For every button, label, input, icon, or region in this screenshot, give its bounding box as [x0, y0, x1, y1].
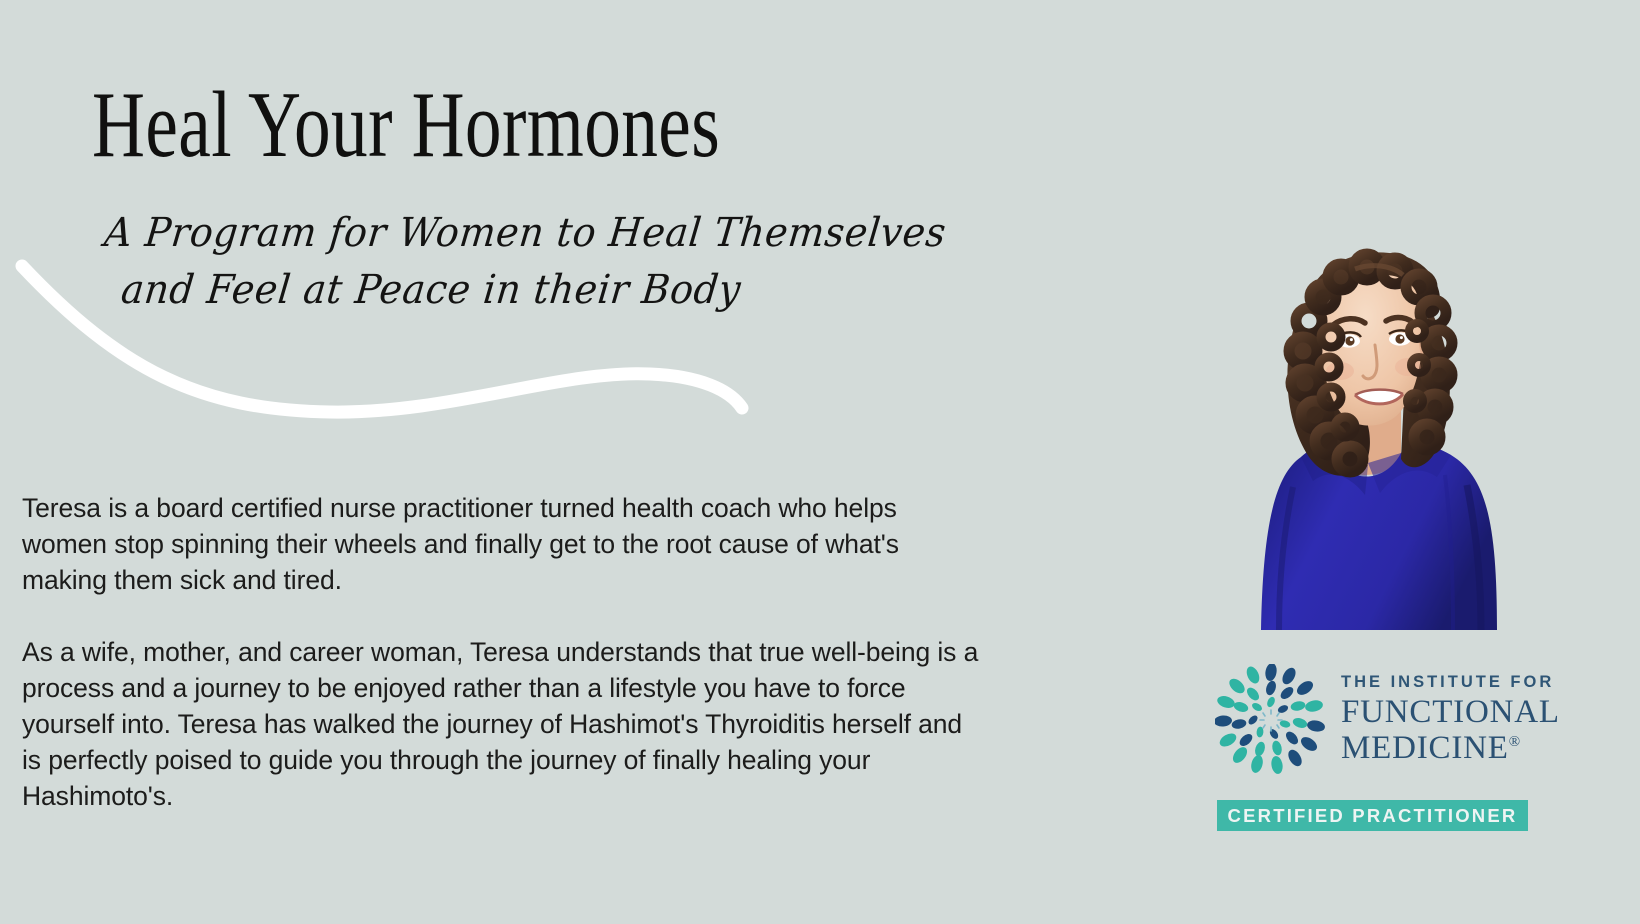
certified-practitioner-label: CERTIFIED PRACTITIONER: [1228, 805, 1518, 827]
portrait-illustration: [1205, 225, 1525, 630]
page-title: Heal Your Hormones: [92, 78, 720, 172]
subtitle-line-1: A Program for Women to Heal Themselves: [102, 205, 773, 262]
registered-mark: ®: [1509, 734, 1521, 750]
ifm-logo-row: THE INSTITUTE FOR FUNCTIONAL MEDICINE®: [1163, 645, 1528, 795]
ifm-line-2: FUNCTIONAL: [1341, 695, 1560, 731]
certified-practitioner-bar: CERTIFIED PRACTITIONER: [1217, 800, 1528, 831]
body-paragraph-2: As a wife, mother, and career woman, Ter…: [22, 634, 982, 814]
ifm-line-3-text: MEDICINE: [1341, 730, 1509, 766]
ifm-certified-practitioner-badge: THE INSTITUTE FOR FUNCTIONAL MEDICINE® C…: [1163, 645, 1528, 835]
ifm-line-3: MEDICINE®: [1341, 731, 1560, 767]
subtitle: A Program for Women to Heal Themselves a…: [96, 205, 773, 319]
body-copy: Teresa is a board certified nurse practi…: [22, 490, 982, 814]
ifm-mandala-icon: [1215, 664, 1327, 776]
portrait-photo: [1205, 225, 1525, 630]
ifm-line-1: THE INSTITUTE FOR: [1341, 673, 1560, 692]
subtitle-line-2: and Feel at Peace in their Body: [96, 262, 767, 319]
ifm-wordmark: THE INSTITUTE FOR FUNCTIONAL MEDICINE®: [1341, 673, 1560, 766]
hero-slide: Heal Your Hormones A Program for Women t…: [0, 0, 1640, 924]
body-paragraph-1: Teresa is a board certified nurse practi…: [22, 490, 982, 598]
